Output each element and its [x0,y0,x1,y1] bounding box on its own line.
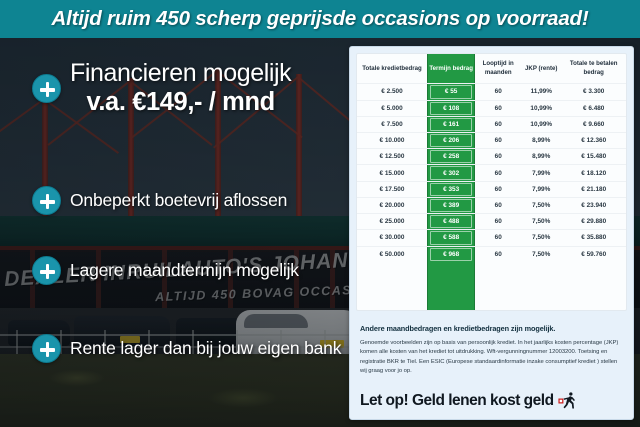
table-cell: € 15.480 [561,149,626,165]
table-header-jkp: JKP (rente) [521,54,561,84]
table-header-row: Totale kredietbedrag Termijn bedrag Loop… [357,54,626,84]
plus-circle-icon [32,74,61,103]
table-header-kredietbedrag: Totale kredietbedrag [357,54,427,84]
rates-card: Totale kredietbedrag Termijn bedrag Loop… [349,46,634,420]
banner-headline: Altijd ruim 450 scherp geprijsde occasio… [52,7,589,31]
table-cell: 60 [475,132,521,148]
table-cell: € 968 [427,246,475,262]
disclaimer-body: Genoemde voorbeelden zijn op basis van p… [360,339,623,377]
table-header-looptijd: Looptijd in maanden [475,54,521,84]
table-cell: 60 [475,197,521,213]
table-cell: € 30.000 [357,230,427,246]
table-cell: € 20.000 [357,197,427,213]
table-cell: 8,99% [521,149,561,165]
feature-sublabel: v.a. €149,- / mnd [70,87,291,117]
table-cell: € 2.500 [357,84,427,100]
table-cell: 7,99% [521,165,561,181]
disclaimer-block: Andere maandbedragen en kredietbedragen … [360,325,623,377]
plus-circle-icon [32,256,61,285]
table-row: € 7.500€ 1616010,99%€ 9.660 [357,116,626,132]
rates-table-body: € 2.500€ 556011,99%€ 3.300€ 5.000€ 10860… [357,84,626,262]
disclaimer-title: Andere maandbedragen en kredietbedragen … [360,325,623,334]
table-cell: 60 [475,84,521,100]
table-cell: € 161 [427,116,475,132]
feature-item-financieren: Financieren mogelijk v.a. €149,- / mnd [32,60,291,117]
feature-label: Onbeperkt boetevrij aflossen [70,190,287,211]
table-cell: € 302 [427,165,475,181]
table-cell: 60 [475,230,521,246]
table-cell: € 29.880 [561,214,626,230]
table-cell: € 35.880 [561,230,626,246]
legal-warning: Let op! Geld lenen kost geld [360,391,578,411]
table-cell: € 108 [427,100,475,116]
table-cell: € 55 [427,84,475,100]
feature-item-boetevrij-aflossen: Onbeperkt boetevrij aflossen [32,186,287,215]
rates-table-container: Totale kredietbedrag Termijn bedrag Loop… [356,53,627,311]
feature-item-rente-lager: Rente lager dan bij jouw eigen bank [32,334,341,363]
table-cell: € 6.480 [561,100,626,116]
table-cell: € 21.180 [561,181,626,197]
rates-table: Totale kredietbedrag Termijn bedrag Loop… [357,54,626,262]
table-cell: € 206 [427,132,475,148]
table-cell: € 7.500 [357,116,427,132]
table-row: € 25.000€ 488607,50%€ 29.880 [357,214,626,230]
table-cell: € 12.360 [561,132,626,148]
table-cell: 60 [475,116,521,132]
table-cell: € 17.500 [357,181,427,197]
table-cell: 7,99% [521,181,561,197]
table-cell: € 12.500 [357,149,427,165]
table-cell: € 23.940 [561,197,626,213]
top-banner: Altijd ruim 450 scherp geprijsde occasio… [0,0,640,38]
table-row: € 10.000€ 206608,99%€ 12.360 [357,132,626,148]
feature-list: Financieren mogelijk v.a. €149,- / mnd O… [0,38,350,427]
table-cell: 60 [475,181,521,197]
table-cell: € 10.000 [357,132,427,148]
table-cell: 11,99% [521,84,561,100]
table-cell: 60 [475,149,521,165]
table-cell: 10,99% [521,100,561,116]
table-header-termijnbedrag: Termijn bedrag [427,54,475,84]
advertisement-banner: Altijd ruim 450 scherp geprijsde occasio… [0,0,640,427]
table-cell: 7,50% [521,214,561,230]
table-row: € 5.000€ 1086010,99%€ 6.480 [357,100,626,116]
table-cell: 7,50% [521,230,561,246]
table-row: € 12.500€ 258608,99%€ 15.480 [357,149,626,165]
table-cell: 7,50% [521,246,561,262]
table-cell: € 15.000 [357,165,427,181]
table-cell: € 389 [427,197,475,213]
feature-label: Lagere maandtermijn mogelijk [70,260,299,281]
table-cell: € 488 [427,214,475,230]
table-cell: € 5.000 [357,100,427,116]
table-cell: € 258 [427,149,475,165]
feature-label: Rente lager dan bij jouw eigen bank [70,338,341,359]
table-cell: € 59.760 [561,246,626,262]
table-cell: 10,99% [521,116,561,132]
table-row: € 20.000€ 389607,50%€ 23.940 [357,197,626,213]
feature-label: Financieren mogelijk [70,60,291,87]
table-row: € 50.000€ 968607,50%€ 59.760 [357,246,626,262]
table-row: € 30.000€ 588607,50%€ 35.880 [357,230,626,246]
table-cell: 60 [475,246,521,262]
table-cell: € 25.000 [357,214,427,230]
running-man-exit-icon [558,391,578,411]
plus-circle-icon [32,334,61,363]
table-cell: € 9.660 [561,116,626,132]
table-row: € 2.500€ 556011,99%€ 3.300 [357,84,626,100]
table-row: € 17.500€ 353607,99%€ 21.180 [357,181,626,197]
table-row: € 15.000€ 302607,99%€ 18.120 [357,165,626,181]
table-cell: € 588 [427,230,475,246]
table-cell: € 50.000 [357,246,427,262]
table-cell: € 18.120 [561,165,626,181]
table-cell: € 3.300 [561,84,626,100]
table-cell: 7,50% [521,197,561,213]
table-cell: 60 [475,214,521,230]
feature-item-lagere-maandtermijn: Lagere maandtermijn mogelijk [32,256,299,285]
plus-circle-icon [32,186,61,215]
legal-warning-text: Let op! Geld lenen kost geld [360,392,554,410]
table-cell: 8,99% [521,132,561,148]
table-cell: 60 [475,165,521,181]
table-cell: 60 [475,100,521,116]
table-cell: € 353 [427,181,475,197]
table-header-totaal: Totale te betalen bedrag [561,54,626,84]
